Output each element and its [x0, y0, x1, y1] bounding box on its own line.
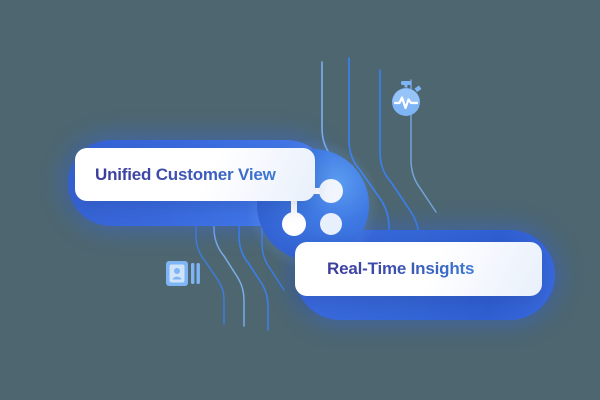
- stopwatch-pulse-icon: [386, 79, 426, 119]
- card-label-unified-customer-view: Unified Customer View: [95, 165, 276, 185]
- card-label-real-time-insights: Real-Time Insights: [327, 259, 474, 279]
- card-real-time-insights[interactable]: Real-Time Insights: [295, 242, 542, 296]
- card-unified-customer-view[interactable]: Unified Customer View: [75, 148, 315, 201]
- illustration-canvas: Unified Customer View Real-Time Insights: [0, 0, 600, 400]
- id-card-icon: [165, 259, 201, 289]
